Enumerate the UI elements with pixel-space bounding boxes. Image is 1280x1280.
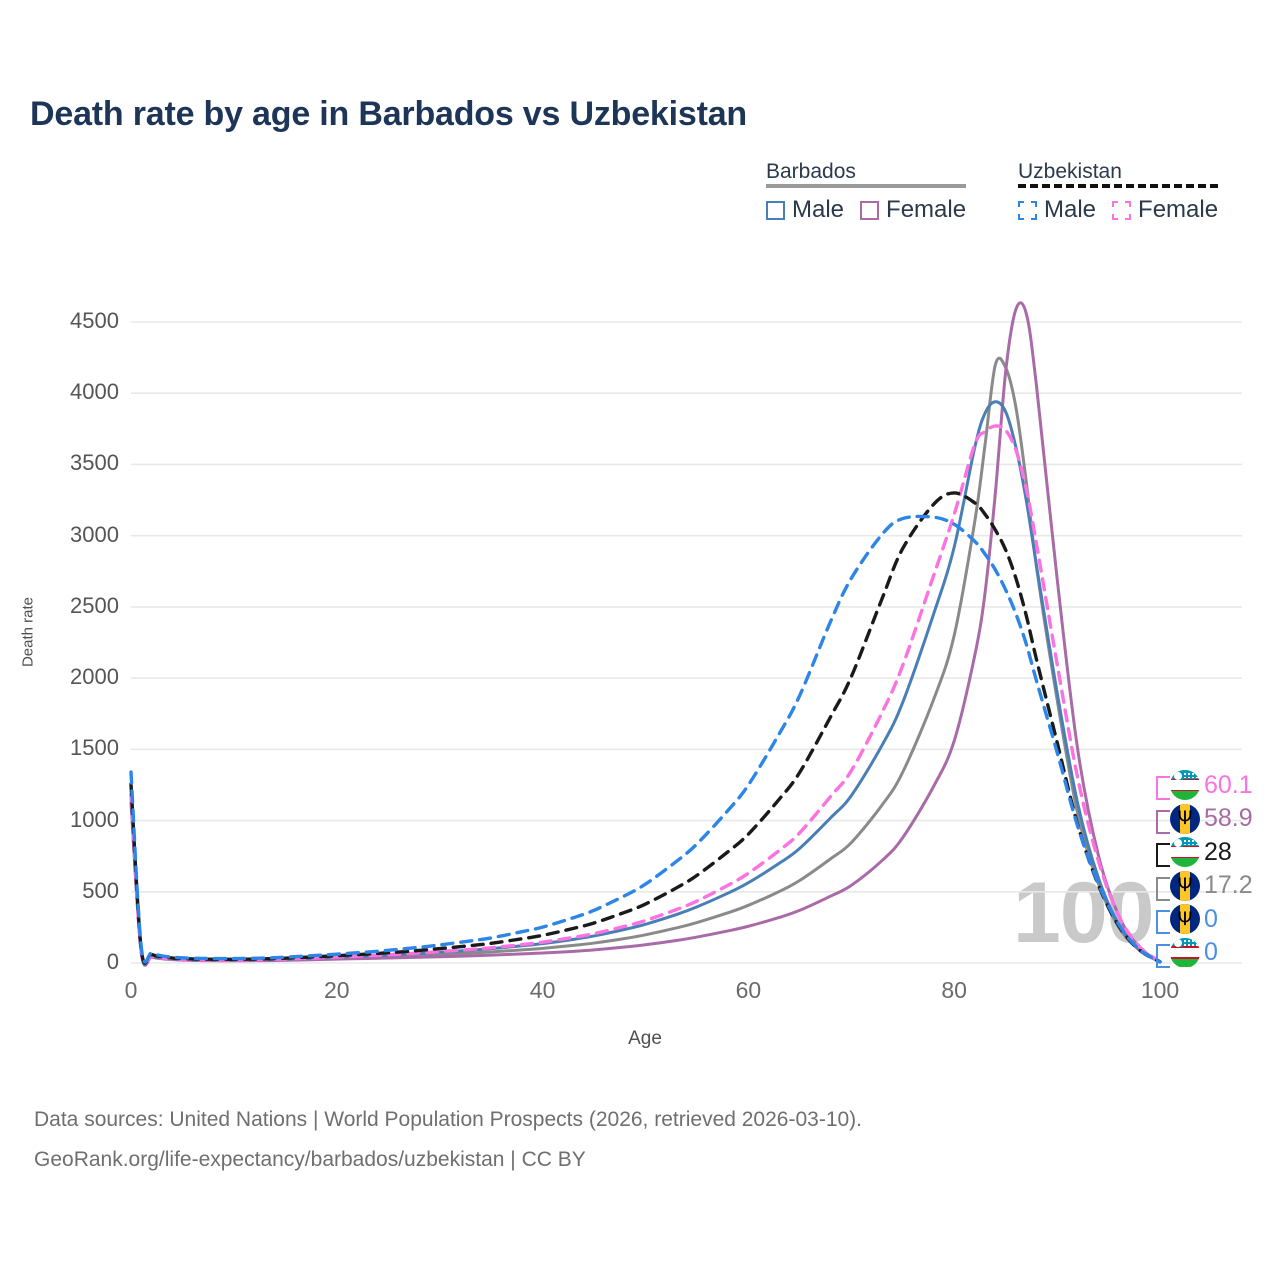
end-label-connector xyxy=(1156,810,1170,834)
x-axis-title: Age xyxy=(628,1028,662,1050)
x-tick-label: 80 xyxy=(941,977,967,1004)
chart-page: Death rate by age in Barbados vs Uzbekis… xyxy=(0,0,1280,1280)
y-tick-label: 500 xyxy=(0,878,119,904)
series-end-label: Ψ58.9 xyxy=(1170,804,1253,834)
x-tick-label: 20 xyxy=(324,977,350,1004)
y-tick-label: 2500 xyxy=(0,593,119,619)
x-tick-label: 40 xyxy=(530,977,556,1004)
y-tick-label: 4000 xyxy=(0,379,119,405)
series-end-value: 58.9 xyxy=(1204,804,1253,833)
y-tick-label: 0 xyxy=(0,949,119,975)
series-end-label: 28 xyxy=(1170,837,1232,867)
series-line-uzbekistan-male xyxy=(131,516,1160,962)
y-tick-label: 2000 xyxy=(0,664,119,690)
series-end-value: 0 xyxy=(1204,905,1218,934)
series-end-label: Ψ17.2 xyxy=(1170,871,1253,901)
x-tick-label: 0 xyxy=(125,977,138,1004)
barbados-flag-icon: Ψ xyxy=(1170,804,1200,834)
series-line-barbados-female xyxy=(131,303,1160,966)
end-label-connector xyxy=(1156,776,1170,800)
series-line-uzbekistan-total xyxy=(131,493,1160,963)
x-tick-label: 60 xyxy=(736,977,762,1004)
series-end-value: 60.1 xyxy=(1204,771,1253,800)
uzbekistan-flag-icon xyxy=(1170,837,1200,867)
y-tick-label: 4500 xyxy=(0,308,119,334)
series-end-value: 28 xyxy=(1204,838,1232,867)
x-tick-label: 100 xyxy=(1141,977,1179,1004)
end-label-connector xyxy=(1156,910,1170,934)
uzbekistan-flag-icon xyxy=(1170,938,1200,968)
end-label-connector xyxy=(1156,944,1170,968)
chart-plot-area xyxy=(0,0,1280,1280)
end-label-connector xyxy=(1156,877,1170,901)
end-label-connector xyxy=(1156,843,1170,867)
series-line-barbados-total xyxy=(131,358,1160,965)
series-end-label: 60.1 xyxy=(1170,770,1253,800)
y-tick-label: 3500 xyxy=(0,450,119,476)
y-tick-label: 1500 xyxy=(0,735,119,761)
barbados-flag-icon: Ψ xyxy=(1170,871,1200,901)
uzbekistan-flag-icon xyxy=(1170,770,1200,800)
series-end-labels: 60.1Ψ58.928Ψ17.2Ψ00 xyxy=(1160,770,1280,975)
footer-data-sources: Data sources: United Nations | World Pop… xyxy=(34,1108,862,1132)
series-end-value: 0 xyxy=(1204,938,1218,967)
series-line-barbados-male xyxy=(131,402,1160,965)
series-end-label: Ψ0 xyxy=(1170,904,1218,934)
y-tick-label: 3000 xyxy=(0,522,119,548)
series-end-value: 17.2 xyxy=(1204,871,1253,900)
footer-attribution: GeoRank.org/life-expectancy/barbados/uzb… xyxy=(34,1148,586,1172)
series-end-label: 0 xyxy=(1170,938,1218,968)
y-tick-label: 1000 xyxy=(0,807,119,833)
barbados-flag-icon: Ψ xyxy=(1170,904,1200,934)
